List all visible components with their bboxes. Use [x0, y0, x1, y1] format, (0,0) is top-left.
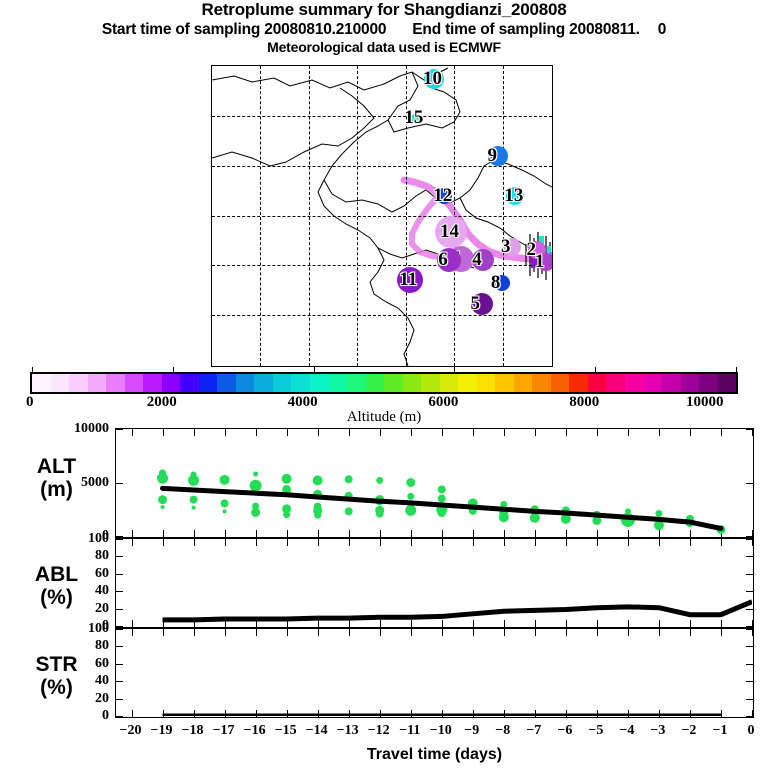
alt-series — [116, 429, 752, 536]
colorbar-segment — [180, 374, 199, 392]
map-canvas: 101591213141138765421 — [212, 66, 552, 366]
alt-scatter-point — [407, 493, 414, 500]
colorbar-tick-label: 10000 — [686, 394, 724, 410]
x-axis-tick-label: −12 — [363, 723, 395, 738]
x-axis-tick-label: −17 — [208, 723, 240, 738]
end-time-label: End time of sampling 20080811. — [412, 21, 639, 38]
alt-scatter-point — [250, 480, 262, 492]
y-axis-tick-right — [746, 536, 753, 537]
alt-scatter-point — [161, 505, 165, 509]
colorbar-tick-label: 2000 — [147, 394, 177, 410]
colorbar-segment — [143, 374, 162, 392]
alt-scatter-point — [223, 509, 227, 513]
alt-scatter-point — [220, 475, 230, 485]
x-axis-tick-label: −11 — [394, 723, 426, 738]
met-data-label: Meteorological data used is ECMWF — [0, 39, 768, 56]
abl-series — [116, 539, 752, 626]
map-marker-label: 5 — [471, 294, 481, 313]
colorbar-segment — [162, 374, 181, 392]
x-axis-tick-label: −18 — [177, 723, 209, 738]
y-axis-tick-label: 40 — [39, 584, 109, 598]
y-axis-tick-label: 5000 — [39, 476, 109, 490]
alt-scatter-point — [376, 477, 383, 484]
alt-scatter-point — [158, 495, 167, 504]
y-axis-tick-label: 60 — [39, 657, 109, 671]
y-axis-tick-right — [746, 716, 753, 717]
x-axis-tick-label: −4 — [611, 723, 643, 738]
alt-scatter-point — [406, 478, 415, 487]
x-axis-tick-label: −16 — [239, 723, 271, 738]
colorbar-segment — [291, 374, 310, 392]
abl-plot-area: 020406080100 — [116, 539, 753, 627]
altitude-colorbar[interactable] — [30, 372, 738, 394]
y-axis-tick-label: 20 — [39, 602, 109, 616]
map-marker-label: 6 — [438, 250, 448, 269]
alt-plot-area: 0500010000 — [116, 429, 753, 537]
x-axis-tick-label: −10 — [425, 723, 457, 738]
end-time-value: 0 — [658, 21, 666, 38]
colorbar-segment — [125, 374, 144, 392]
retroplume-summary-figure: Retroplume summary for Shangdianzi_20080… — [0, 0, 768, 768]
colorbar-segment — [514, 374, 533, 392]
x-axis-tick-label: −6 — [549, 723, 581, 738]
colorbar-segment — [662, 374, 681, 392]
alt-scatter-point — [192, 506, 196, 510]
colorbar-segment — [495, 374, 514, 392]
map-marker-label: 4 — [472, 250, 482, 269]
colorbar-axis-title: Altitude (m) — [0, 409, 768, 426]
colorbar-segment — [329, 374, 348, 392]
y-axis-tick — [116, 536, 123, 537]
abl-line — [163, 602, 752, 620]
abl-panel[interactable]: 020406080100 — [115, 538, 754, 628]
colorbar-tick-label: 4000 — [288, 394, 318, 410]
x-axis-tick-label: −1 — [704, 723, 736, 738]
colorbar-segment — [88, 374, 107, 392]
colorbar-segment — [273, 374, 292, 392]
x-axis-tick-label: −20 — [115, 723, 147, 738]
colorbar-segment — [106, 374, 125, 392]
str-panel[interactable]: 020406080100 — [115, 628, 754, 718]
x-axis-tick-label: −13 — [332, 723, 364, 738]
colorbar-tick-label: 0 — [26, 394, 34, 410]
alt-scatter-point — [313, 475, 323, 485]
alt-scatter-point — [190, 496, 198, 504]
x-axis-title: Travel time (days) — [115, 746, 754, 764]
colorbar-segment — [532, 374, 551, 392]
colorbar-segment — [440, 374, 459, 392]
map-marker-label: 8 — [491, 273, 501, 292]
map-gridline-horizontal — [212, 315, 552, 316]
map-gridline-horizontal — [212, 116, 552, 117]
alt-scatter-point — [405, 505, 416, 516]
x-axis-tick-label: 0 — [735, 723, 767, 738]
x-axis-tick-label: −14 — [301, 723, 333, 738]
alt-scatter-point — [253, 471, 258, 476]
colorbar-tick-label: 6000 — [428, 394, 458, 410]
map-marker-label: 11 — [399, 270, 417, 289]
map-marker-label: 1 — [535, 252, 545, 271]
str-series — [116, 629, 752, 716]
y-axis-tick-label: 100 — [39, 532, 109, 546]
map-marker-label: 12 — [433, 186, 452, 205]
alt-scatter-point — [221, 499, 229, 507]
alt-scatter-point — [345, 475, 353, 483]
colorbar-segment — [403, 374, 422, 392]
x-axis-tick-label: −19 — [146, 723, 178, 738]
alt-scatter-point — [282, 474, 292, 484]
str-plot-area: 020406080100 — [116, 629, 753, 717]
alt-scatter-point — [438, 495, 446, 503]
y-axis-tick-label: 40 — [39, 674, 109, 688]
x-axis-tick-top — [752, 629, 753, 636]
colorbar-segment — [236, 374, 255, 392]
map-gridline-horizontal — [212, 216, 552, 217]
colorbar-segment — [69, 374, 88, 392]
colorbar-segment — [347, 374, 366, 392]
colorbar-segment — [458, 374, 477, 392]
x-axis-tick-label: −8 — [487, 723, 519, 738]
map-marker-label: 14 — [440, 222, 459, 241]
colorbar-tick-label: 8000 — [569, 394, 599, 410]
map-marker-label: 15 — [404, 108, 423, 127]
colorbar-segment — [421, 374, 440, 392]
colorbar-segment — [718, 374, 737, 392]
page-title: Retroplume summary for Shangdianzi_20080… — [0, 0, 768, 20]
colorbar-segment — [681, 374, 700, 392]
x-axis-tick-label: −9 — [456, 723, 488, 738]
colorbar-segment — [477, 374, 496, 392]
colorbar-segment — [384, 374, 403, 392]
alt-scatter-point — [159, 469, 166, 476]
map-gridline-horizontal — [212, 166, 552, 167]
map-marker-label: 13 — [504, 186, 523, 205]
colorbar-segment — [32, 374, 51, 392]
colorbar-segment — [606, 374, 625, 392]
colorbar-segment — [699, 374, 718, 392]
alt-scatter-point — [283, 511, 290, 518]
map-gridline-horizontal — [212, 265, 552, 266]
colorbar-segment — [625, 374, 644, 392]
colorbar-segment — [199, 374, 218, 392]
x-axis-tick-top — [752, 429, 753, 436]
alt-scatter-point — [376, 510, 384, 518]
colorbar-segment — [217, 374, 236, 392]
alt-scatter-point — [530, 513, 540, 523]
y-axis-tick-right — [746, 626, 753, 627]
y-axis-tick-label: 80 — [39, 639, 109, 653]
alt-scatter-point — [655, 510, 662, 517]
alt-scatter-point — [499, 512, 509, 522]
colorbar-segment — [310, 374, 329, 392]
map-marker-label: 10 — [423, 69, 442, 88]
x-axis-tick-label: −15 — [270, 723, 302, 738]
alt-scatter-point — [314, 512, 321, 519]
map-marker-label: 9 — [487, 146, 497, 165]
colorbar-segment — [366, 374, 385, 392]
alt-scatter-point — [251, 508, 260, 517]
y-axis-tick-label: 10000 — [39, 422, 109, 436]
alt-panel[interactable]: 0500010000 — [115, 428, 754, 538]
alt-scatter-point — [191, 471, 197, 477]
y-axis-tick-label: 20 — [39, 692, 109, 706]
colorbar-segment — [569, 374, 588, 392]
x-axis-tick-label: −2 — [673, 723, 705, 738]
y-axis-tick-label: 0 — [39, 709, 109, 723]
colorbar-segment — [551, 374, 570, 392]
colorbar-segment — [588, 374, 607, 392]
colorbar-segment — [644, 374, 663, 392]
x-axis-tick-label: −5 — [580, 723, 612, 738]
alt-scatter-point — [437, 508, 446, 517]
start-time-label: Start time of sampling 20080810.210000 — [102, 21, 386, 38]
sampling-time-line: Start time of sampling 20080810.210000En… — [0, 20, 768, 39]
figure-title-block: Retroplume summary for Shangdianzi_20080… — [0, 0, 768, 56]
alt-scatter-point — [438, 485, 446, 493]
y-axis-tick-label: 60 — [39, 567, 109, 581]
y-axis-tick — [116, 716, 123, 717]
map-marker-label: 3 — [501, 237, 511, 256]
alt-scatter-point — [345, 507, 353, 515]
y-axis-tick-label: 100 — [39, 622, 109, 636]
y-axis-tick — [116, 626, 123, 627]
colorbar-segment — [254, 374, 273, 392]
y-axis-tick-label: 80 — [39, 549, 109, 563]
x-axis-tick-top — [752, 539, 753, 546]
colorbar-segment — [51, 374, 70, 392]
retroplume-map[interactable]: 101591213141138765421 — [211, 65, 553, 367]
x-axis-tick-label: −3 — [642, 723, 674, 738]
x-axis-tick-label: −7 — [518, 723, 550, 738]
